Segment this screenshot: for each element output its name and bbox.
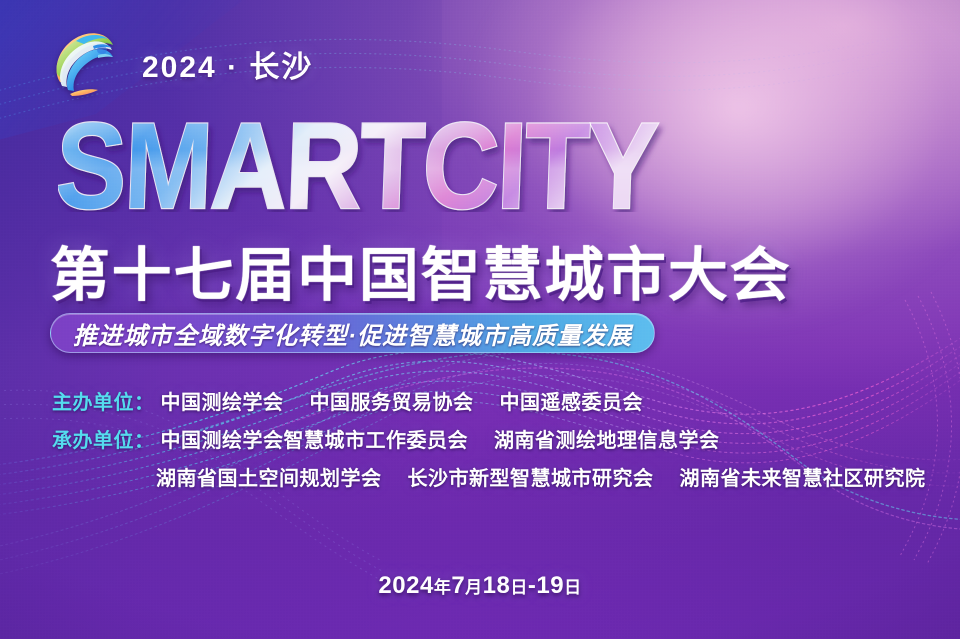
organizer-line: 承办单位： 中国测绘学会智慧城市工作委员会湖南省测绘地理信息学会 (52, 424, 932, 453)
event-date-month: 7 (451, 572, 465, 599)
slogan-pill: 推进城市全域数字化转型·促进智慧城市高质量发展 (50, 313, 655, 353)
organizer-block: 主办单位： 中国测绘学会中国服务贸易协会中国遥感委员会 承办单位： 中国测绘学会… (52, 386, 932, 500)
event-date-day-unit-start: 日 (510, 578, 528, 597)
event-date-year: 2024 (378, 572, 433, 599)
event-date: 2024年7月18日-19日 (0, 572, 960, 600)
english-title-sheen: SMARTCITY (58, 104, 659, 212)
smart-city-globe-swirl-logo-icon (46, 24, 120, 104)
organizer-names: 中国测绘学会智慧城市工作委员会湖南省测绘地理信息学会 (161, 424, 720, 453)
event-date-month-unit: 月 (465, 578, 483, 597)
brand-row: 2024 · 长沙 (46, 24, 313, 104)
english-title: SMARTCITY SMARTCITY (58, 104, 848, 212)
event-date-day-start: 18 (483, 572, 511, 599)
event-date-year-unit: 年 (434, 578, 452, 597)
organizer-names: 中国测绘学会中国服务贸易协会中国遥感委员会 (161, 386, 644, 415)
organizer-names: 湖南省国土空间规划学会长沙市新型智慧城市研究会湖南省未来智慧社区研究院 (156, 462, 926, 491)
event-date-day-end: 19 (536, 572, 564, 599)
organizer-line: 主办单位： 中国测绘学会中国服务贸易协会中国遥感委员会 (52, 386, 932, 415)
organizer-label: 主办单位： (52, 386, 155, 415)
organizer-label: 承办单位： (52, 424, 155, 453)
english-title-wordmark: SMARTCITY SMARTCITY (58, 104, 848, 212)
chinese-title: 第十七届中国智慧城市大会 (50, 228, 874, 312)
year-city-label: 2024 · 长沙 (142, 42, 313, 86)
conference-banner: 2024 · 长沙 (0, 0, 960, 639)
slogan-text: 推进城市全域数字化转型·促进智慧城市高质量发展 (73, 316, 632, 351)
event-date-day-unit-end: 日 (564, 578, 582, 597)
organizer-line: 湖南省国土空间规划学会长沙市新型智慧城市研究会湖南省未来智慧社区研究院 (52, 462, 932, 491)
